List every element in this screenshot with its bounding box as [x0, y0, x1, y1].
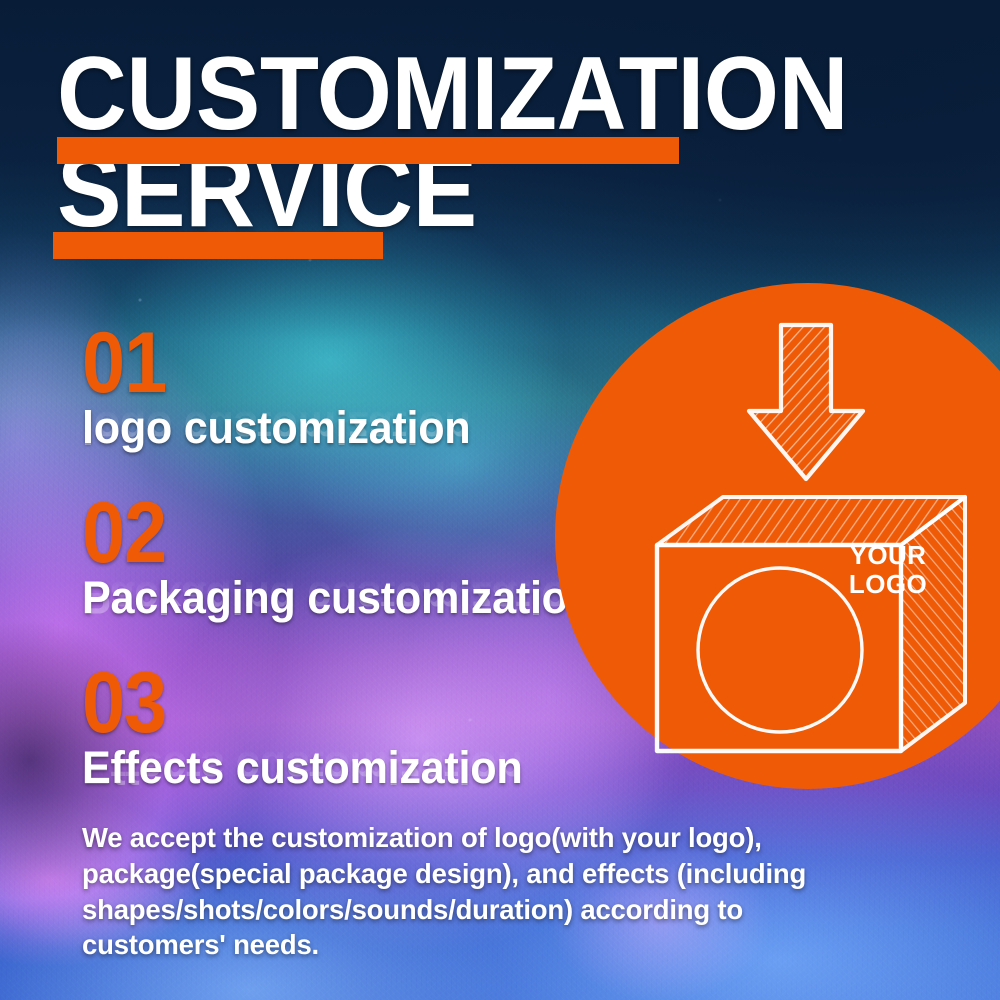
list-item-label: Packaging customization — [82, 575, 594, 620]
headline-underline-bar-2 — [53, 232, 383, 259]
your-logo-text: YOUR LOGO — [818, 541, 958, 599]
list-item: 01 logo customization logo customization — [82, 330, 487, 450]
headline-underline-bar-1 — [57, 137, 679, 164]
list-item-number: 02 — [82, 500, 562, 567]
headline-line-1: CUSTOMIZATION — [57, 44, 727, 145]
list-item-label: Effects customization — [82, 745, 522, 790]
description-paragraph: We accept the customization of logo(with… — [82, 820, 852, 963]
packaging-box-illustration: YOUR LOGO — [605, 283, 1000, 793]
list-item-label-wrap: Effects customization Effects customizat… — [82, 745, 541, 790]
list-item-label-wrap: logo customization logo customization — [82, 405, 487, 450]
list-item-number: 03 — [82, 670, 495, 737]
list-item-label-wrap: Packaging customization Packaging custom… — [82, 575, 615, 620]
customization-service-banner: CUSTOMIZATION SERVICE 01 logo customizat… — [0, 0, 1000, 1000]
your-logo-line-2: LOGO — [818, 570, 958, 599]
your-logo-line-1: YOUR — [818, 541, 958, 570]
list-item-number: 01 — [82, 330, 446, 397]
list-item: 03 Effects customization Effects customi… — [82, 670, 541, 790]
down-arrow-icon — [749, 325, 863, 479]
list-item-label: logo customization — [82, 405, 470, 450]
list-item: 02 Packaging customization Packaging cus… — [82, 500, 615, 620]
